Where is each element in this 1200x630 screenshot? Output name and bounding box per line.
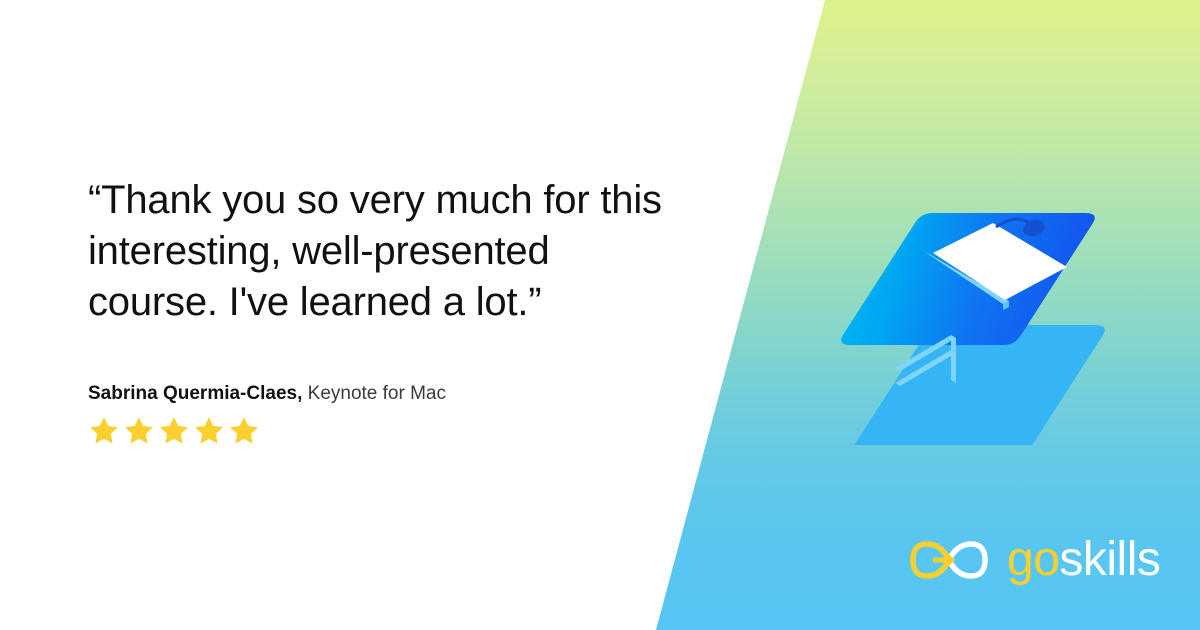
course-name: Keynote for Mac [308, 383, 446, 404]
quote-block: “Thank you so very much for this interes… [88, 175, 668, 328]
logo-word-skills: skills [1059, 533, 1160, 586]
goskills-wordmark: goskills [1007, 536, 1160, 584]
author-name: Sabrina Quermia-Claes, [88, 383, 302, 404]
testimonial-card: “Thank you so very much for this interes… [0, 0, 1200, 630]
goskills-logo[interactable]: goskills [905, 534, 1160, 586]
star-icon [192, 414, 226, 448]
star-icon [122, 414, 156, 448]
star-icon [157, 414, 191, 448]
quote-text: “Thank you so very much for this interes… [88, 175, 668, 328]
star-icon [227, 414, 261, 448]
star-rating [87, 414, 261, 448]
attribution: Sabrina Quermia-Claes, Keynote for Mac [88, 382, 446, 406]
goskills-infinity-mark [905, 534, 991, 586]
isometric-podium-illustration [800, 175, 1150, 445]
presentation-illustration [800, 175, 1150, 445]
logo-word-go: go [1007, 533, 1059, 586]
star-icon [87, 414, 121, 448]
